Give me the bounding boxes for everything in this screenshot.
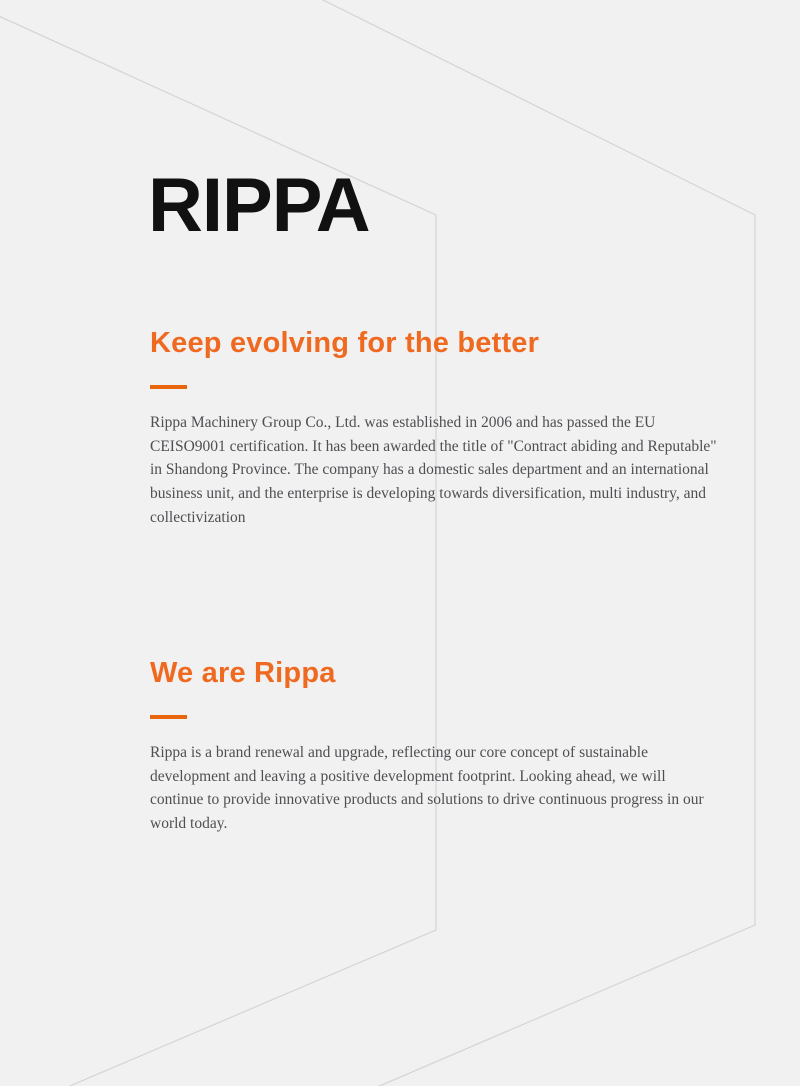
section-body-brand: Rippa is a brand renewal and upgrade, re…: [150, 719, 710, 835]
brand-wordmark: RIPPA: [148, 168, 370, 244]
about-section-company: Keep evolving for the better Rippa Machi…: [150, 327, 740, 529]
section-heading-keep-evolving: Keep evolving for the better: [150, 327, 740, 360]
section-heading-we-are-rippa: We are Rippa: [150, 657, 740, 690]
about-section-brand: We are Rippa Rippa is a brand renewal an…: [150, 657, 740, 836]
page-content: RIPPA Keep evolving for the better Rippa…: [0, 0, 800, 1086]
section-body-company: Rippa Machinery Group Co., Ltd. was esta…: [150, 389, 730, 529]
